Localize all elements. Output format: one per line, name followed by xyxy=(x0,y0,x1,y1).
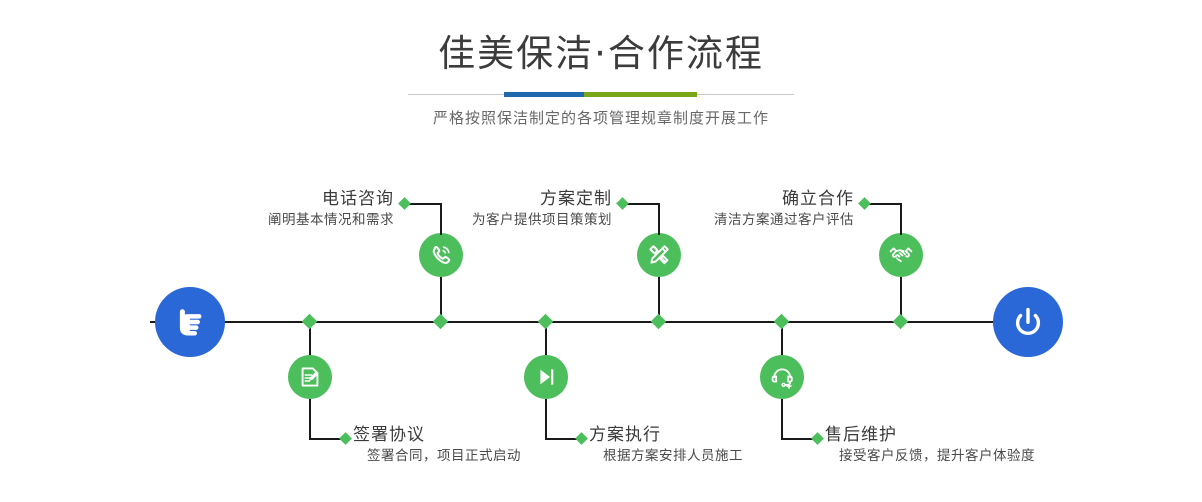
header: 佳美保洁·合作流程 严格按照保洁制定的各项管理规章制度开展工作 xyxy=(0,30,1202,128)
step-5-label: 确立合作 清洁方案通过客户评估 xyxy=(620,188,854,230)
step-6-elbow-vertical xyxy=(781,399,783,439)
step-4-node[interactable] xyxy=(524,355,568,399)
step-2-label: 签署协议 签署合同，项目正式启动 xyxy=(353,424,521,466)
phone-call-icon xyxy=(428,242,454,268)
document-edit-icon xyxy=(297,364,323,390)
step-3-desc: 为客户提供项目策策划 xyxy=(380,210,612,230)
step-5-title: 确立合作 xyxy=(620,188,854,210)
step-2-node[interactable] xyxy=(288,355,332,399)
step-6-node[interactable] xyxy=(760,355,804,399)
timeline-axis xyxy=(150,321,1052,323)
pencil-ruler-icon xyxy=(646,242,672,268)
step-4-label-marker xyxy=(575,432,588,445)
step-2-desc: 签署合同，项目正式启动 xyxy=(367,446,521,466)
step-6-label: 售后维护 接受客户反馈，提升客户体验度 xyxy=(825,424,1035,466)
step-5-elbow-horizontal xyxy=(867,203,902,205)
step-1-label: 电话咨询 阐明基本情况和需求 xyxy=(150,188,394,230)
step-1-desc: 阐明基本情况和需求 xyxy=(150,210,394,230)
customer-service-add-icon xyxy=(769,364,795,390)
step-3-axis-marker xyxy=(651,314,667,330)
page-title: 佳美保洁·合作流程 xyxy=(0,30,1202,78)
step-1-node[interactable] xyxy=(419,233,463,277)
step-5-desc: 清洁方案通过客户评估 xyxy=(620,210,854,230)
step-1-axis-marker xyxy=(433,314,449,330)
page-subtitle: 严格按照保洁制定的各项管理规章制度开展工作 xyxy=(0,107,1202,128)
step-6-axis-marker xyxy=(774,314,790,330)
step-5-elbow-vertical xyxy=(900,203,902,235)
step-2-label-marker xyxy=(339,432,352,445)
step-5-node[interactable] xyxy=(879,233,923,277)
power-icon xyxy=(1008,302,1048,342)
step-4-elbow-vertical xyxy=(545,399,547,439)
step-4-title: 方案执行 xyxy=(589,424,743,446)
end-node[interactable] xyxy=(993,287,1063,357)
step-2-axis-marker xyxy=(302,314,318,330)
step-4-label: 方案执行 根据方案安排人员施工 xyxy=(589,424,743,466)
step-3-node[interactable] xyxy=(637,233,681,277)
flowchart-canvas: 佳美保洁·合作流程 严格按照保洁制定的各项管理规章制度开展工作 xyxy=(0,0,1202,502)
step-2-elbow-vertical xyxy=(309,399,311,439)
step-6-label-marker xyxy=(811,432,824,445)
step-1-title: 电话咨询 xyxy=(150,188,394,210)
step-4-axis-marker xyxy=(538,314,554,330)
pointing-hand-icon xyxy=(170,302,210,342)
handshake-icon xyxy=(888,242,914,268)
step-3-label: 方案定制 为客户提供项目策策划 xyxy=(380,188,612,230)
title-divider xyxy=(408,92,794,97)
step-5-axis-marker xyxy=(893,314,909,330)
step-5-label-marker xyxy=(858,197,871,210)
step-3-title: 方案定制 xyxy=(380,188,612,210)
step-6-title: 售后维护 xyxy=(825,424,1035,446)
step-6-desc: 接受客户反馈，提升客户体验度 xyxy=(839,446,1035,466)
start-node[interactable] xyxy=(155,287,225,357)
divider-segment-blue xyxy=(504,92,584,97)
play-execute-icon xyxy=(533,364,559,390)
step-2-title: 签署协议 xyxy=(353,424,521,446)
divider-segment-green xyxy=(584,92,697,97)
step-4-desc: 根据方案安排人员施工 xyxy=(603,446,743,466)
